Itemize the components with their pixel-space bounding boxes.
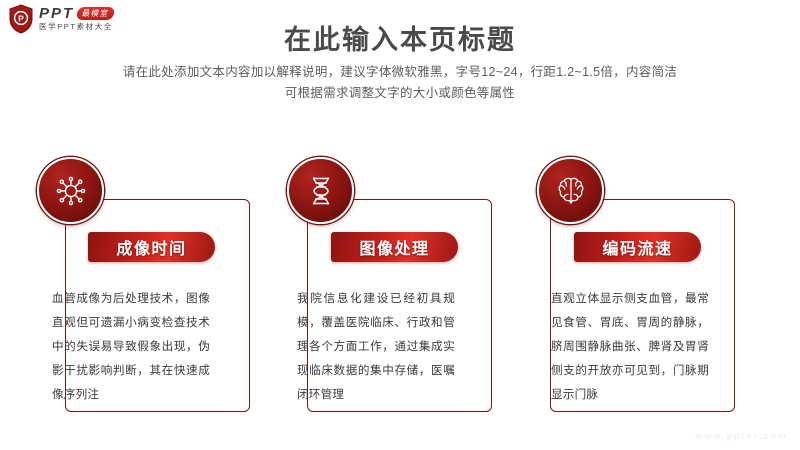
card-badge[interactable]: 图像处理 bbox=[331, 232, 458, 262]
card-badge[interactable]: 成像时间 bbox=[88, 232, 215, 262]
brain-icon[interactable] bbox=[537, 157, 604, 224]
card-badge-label: 成像时间 bbox=[116, 235, 186, 259]
footer-watermark: www.ppter.com bbox=[696, 431, 788, 441]
card-group: 成像时间 血管成像为后处理技术，图像直观但可遗漏小病变检查技术中的失误易导致假象… bbox=[0, 0, 800, 450]
card-badge[interactable]: 编码流速 bbox=[574, 232, 701, 262]
card-body-text: 直观立体显示侧支血管，最常见食管、胃底、胃周的静脉，脐周围静脉曲张、脾肾及胃肾侧… bbox=[551, 287, 709, 407]
card-body-text: 血管成像为后处理技术，图像直观但可遗漏小病变检查技术中的失误易导致假象出现，伪影… bbox=[52, 287, 210, 407]
dna-icon[interactable] bbox=[287, 157, 354, 224]
molecule-icon[interactable] bbox=[37, 157, 104, 224]
card-badge-label: 图像处理 bbox=[359, 235, 429, 259]
card-body-text: 我院信息化建设已经初具规模，覆盖医院临床、行政和管理各个方面工作，通过集成实现临… bbox=[297, 287, 455, 407]
card-badge-label: 编码流速 bbox=[602, 235, 672, 259]
